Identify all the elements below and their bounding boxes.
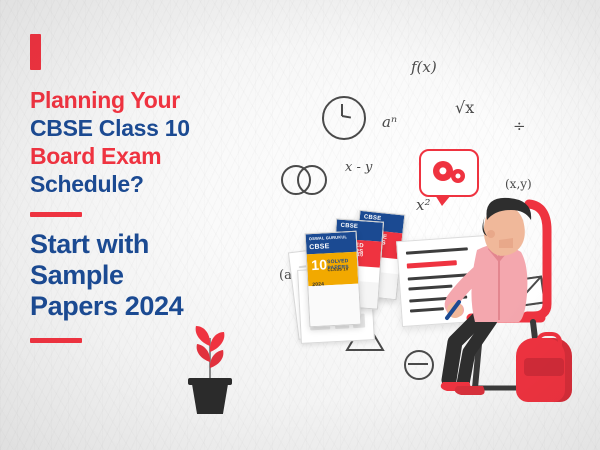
plant-pot — [192, 384, 228, 414]
coordinate-doodle: (x,y) — [505, 177, 532, 191]
bottom-accent-bar — [30, 338, 82, 343]
gear-large-icon — [433, 161, 453, 181]
subheadline-line-3: Papers 2024 — [30, 291, 280, 322]
subheadline: Start with Sample Papers 2024 — [30, 229, 280, 322]
backpack — [516, 338, 572, 402]
backpack-handle — [536, 332, 562, 350]
book-front-class-number: 10 — [311, 256, 328, 273]
subheadline-line-1: Start with — [30, 229, 280, 260]
gear-small-icon — [451, 169, 465, 183]
fx-doodle: f(x) — [411, 58, 437, 76]
headline-line-2: CBSE Class 10 — [30, 114, 280, 142]
backpack-flap — [524, 358, 564, 376]
book-middle-board: CBSE — [340, 223, 358, 230]
plant-pot-rim — [188, 378, 232, 385]
book-front-board: CBSE — [309, 243, 330, 251]
book-front: OSWAL GURUKUL CBSE 10 SOLVED PAPERS CLAS… — [305, 231, 362, 328]
sample-papers-stack: CBSE SAMPLE PAPERS 2024 CBSE SOLVED PAPE… — [293, 226, 413, 346]
headline-line-4: Schedule? — [30, 170, 280, 198]
middle-accent-bar — [30, 212, 82, 217]
potted-plant — [178, 322, 242, 414]
clock-icon — [322, 96, 366, 140]
headline: Planning Your CBSE Class 10 Board Exam S… — [30, 86, 280, 198]
a-power-n-doodle: aⁿ — [382, 113, 397, 131]
text-column: Planning Your CBSE Class 10 Board Exam S… — [30, 34, 280, 343]
headline-line-3: Board Exam — [30, 142, 280, 170]
division-doodle: ÷ — [513, 117, 526, 135]
poster-image: Planning Your CBSE Class 10 Board Exam S… — [0, 0, 600, 450]
circle-diameter-icon — [404, 350, 434, 380]
headline-line-1: Planning Your — [30, 86, 280, 114]
plant-leaves-svg — [178, 322, 242, 384]
top-accent-bar — [30, 34, 41, 70]
book-front-year: 2024 — [312, 281, 324, 288]
x-squared-doodle: x² — [416, 196, 430, 214]
venn-diagram-icon — [281, 165, 327, 193]
sqrt-doodle: √x — [455, 98, 474, 117]
x-minus-y-doodle: x - y — [345, 160, 372, 175]
thought-bubble-icon — [419, 149, 479, 197]
subheadline-line-2: Sample — [30, 260, 280, 291]
